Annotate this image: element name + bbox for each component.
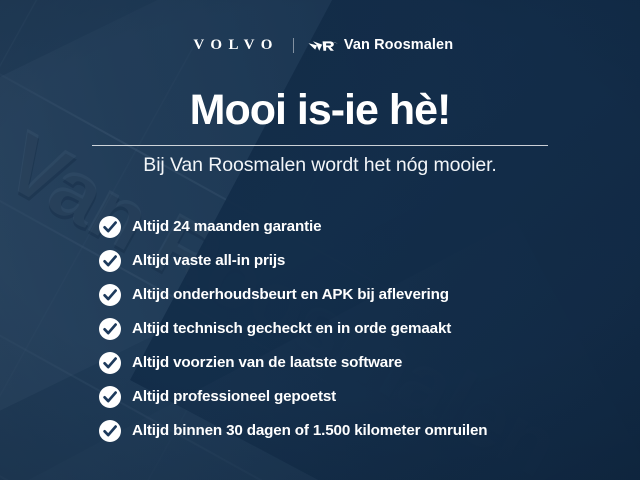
logo-separator	[293, 38, 294, 53]
check-circle-icon	[99, 352, 121, 374]
logo-bar: VOLVO Van Roosmalen	[0, 38, 640, 53]
list-item: Altijd vaste all-in prijs	[99, 244, 616, 278]
banner-content: VOLVO Van Roosmalen Mooi is-ie hè! Bij V…	[0, 0, 640, 480]
divider-rule	[92, 145, 548, 146]
benefit-label: Altijd professioneel gepoetst	[132, 389, 336, 404]
benefit-label: Altijd binnen 30 dagen of 1.500 kilomete…	[132, 423, 487, 438]
benefit-label: Altijd onderhoudsbeurt en APK bij afleve…	[132, 287, 449, 302]
dealer-logo-lockup: Van Roosmalen	[308, 38, 453, 53]
check-circle-icon	[99, 216, 121, 238]
check-circle-icon	[99, 318, 121, 340]
check-circle-icon	[99, 386, 121, 408]
list-item: Altijd binnen 30 dagen of 1.500 kilomete…	[99, 414, 616, 448]
benefits-list: Altijd 24 maanden garantie Altijd vaste …	[99, 210, 616, 448]
benefit-label: Altijd technisch gecheckt en in orde gem…	[132, 321, 451, 336]
check-circle-icon	[99, 250, 121, 272]
check-circle-icon	[99, 420, 121, 442]
check-circle-icon	[99, 284, 121, 306]
list-item: Altijd onderhoudsbeurt en APK bij afleve…	[99, 278, 616, 312]
benefit-label: Altijd voorzien van de laatste software	[132, 355, 402, 370]
dealer-name: Van Roosmalen	[344, 38, 453, 53]
headline: Mooi is-ie hè!	[0, 88, 640, 133]
list-item: Altijd voorzien van de laatste software	[99, 346, 616, 380]
benefit-label: Altijd 24 maanden garantie	[132, 219, 321, 234]
benefit-label: Altijd vaste all-in prijs	[132, 253, 285, 268]
subtitle: Bij Van Roosmalen wordt het nóg mooier.	[0, 154, 640, 177]
list-item: Altijd technisch gecheckt en in orde gem…	[99, 312, 616, 346]
promo-banner: Van Roosmalen VOLVO Van Roosmalen	[0, 0, 640, 480]
list-item: Altijd 24 maanden garantie	[99, 210, 616, 244]
volvo-wordmark: VOLVO	[187, 38, 279, 53]
list-item: Altijd professioneel gepoetst	[99, 380, 616, 414]
vr-monogram-icon	[308, 39, 338, 53]
